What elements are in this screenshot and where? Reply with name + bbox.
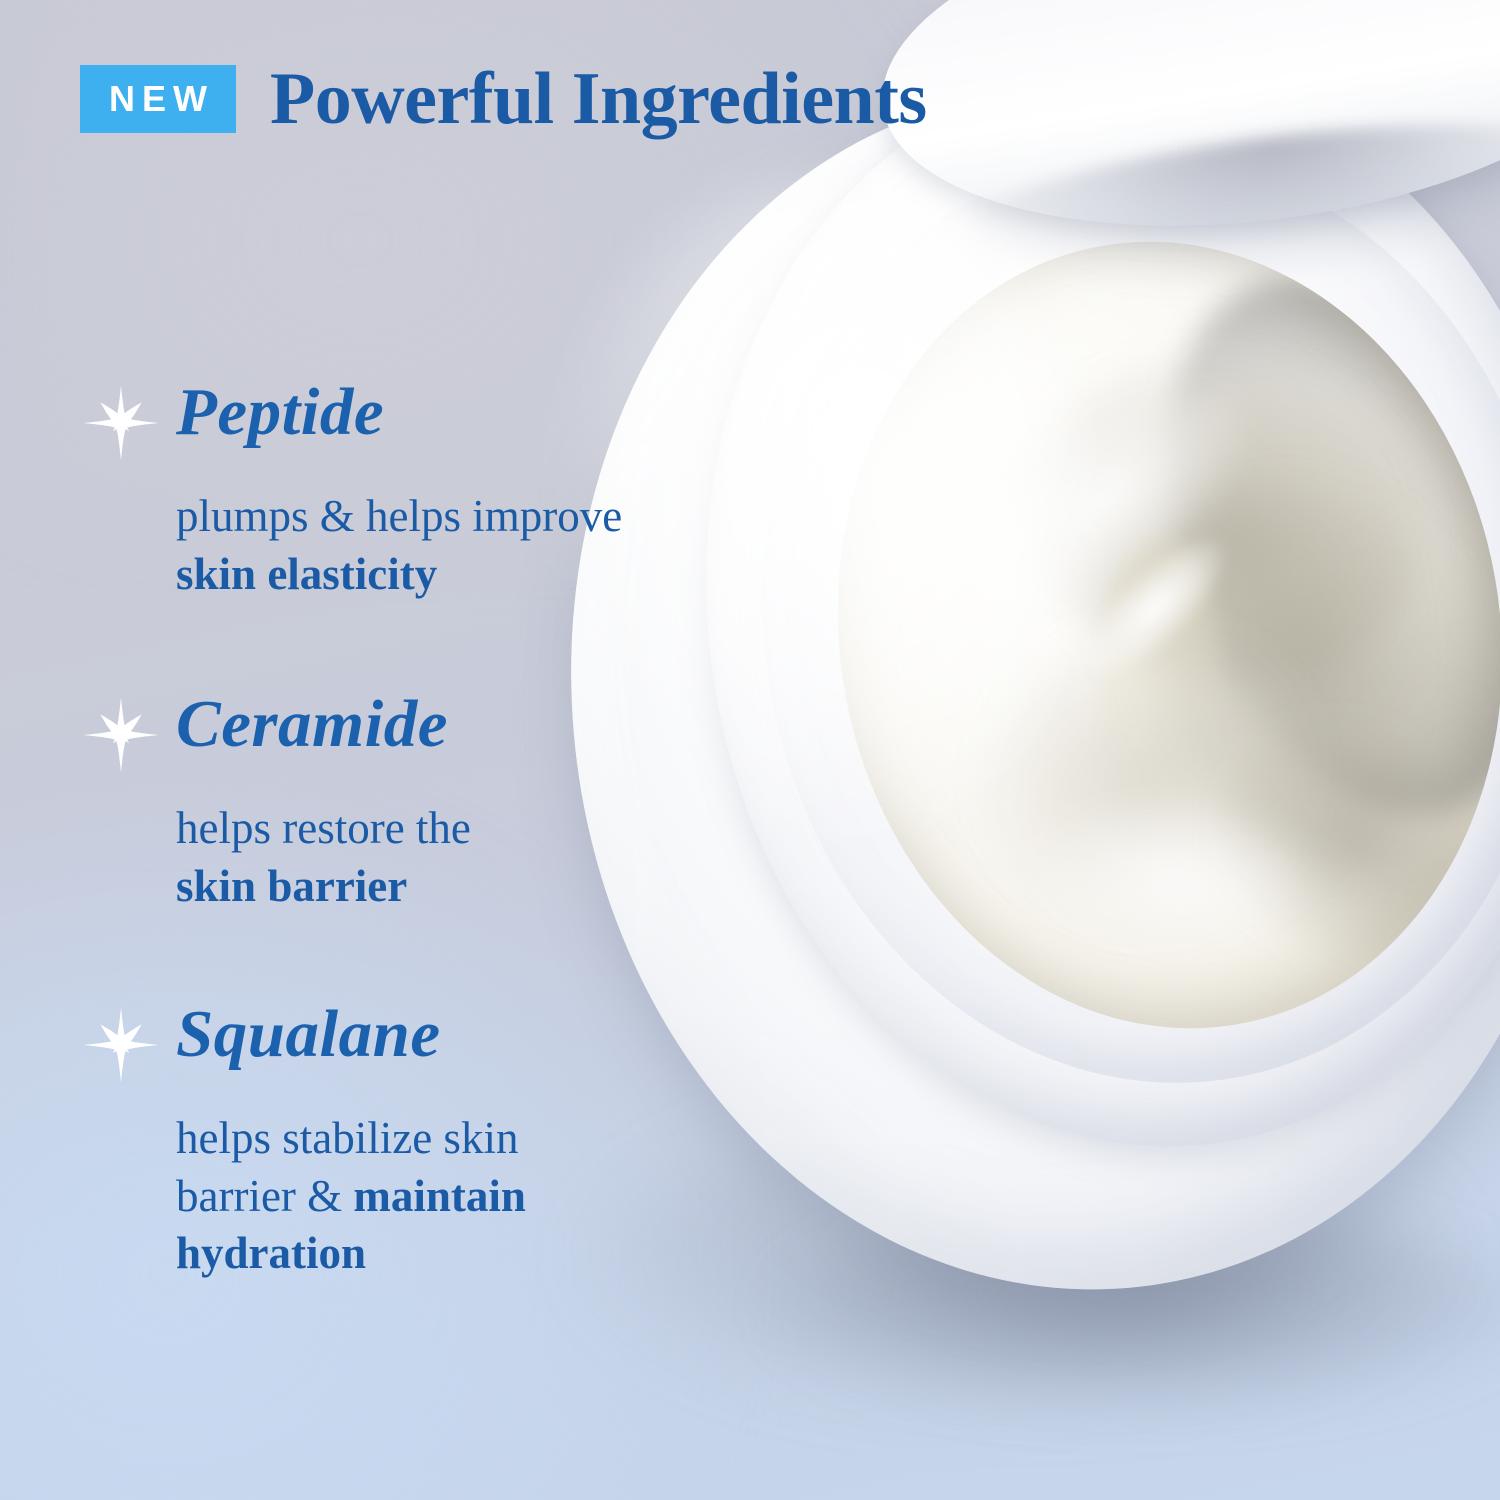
ingredient-description-regular: plumps & helps improve	[176, 491, 622, 541]
ingredient-heading-row: Squalane	[82, 1000, 702, 1084]
ingredient-name: Ceramide	[176, 690, 448, 758]
ingredient-description-regular: helps stabilize skin	[176, 1113, 518, 1163]
sparkle-icon	[82, 384, 160, 462]
ingredient-description-bold: skin barrier	[176, 861, 407, 911]
product-feature-card: NEW Powerful Ingredients Peptide plumps …	[0, 0, 1500, 1500]
header: NEW Powerful Ingredients	[80, 62, 927, 136]
ingredient-description-regular-2: barrier &	[176, 1171, 342, 1221]
ingredient-description-regular: helps restore the	[176, 803, 471, 853]
page-title: Powerful Ingredients	[270, 62, 927, 136]
ingredient-item: Ceramide helps restore the skin barrier	[82, 690, 702, 915]
new-badge: NEW	[80, 65, 236, 133]
sparkle-icon	[82, 696, 160, 774]
ingredient-description-bold: skin elasticity	[176, 549, 437, 599]
ingredient-name: Peptide	[176, 378, 384, 446]
ingredient-name: Squalane	[176, 1000, 441, 1068]
sparkle-icon	[82, 1006, 160, 1084]
ingredient-description: helps stabilize skin barrier & maintain …	[176, 1110, 702, 1283]
ingredient-description: plumps & helps improve skin elasticity	[176, 488, 702, 603]
ingredient-heading-row: Peptide	[82, 378, 702, 462]
ingredient-heading-row: Ceramide	[82, 690, 702, 774]
ingredient-item: Squalane helps stabilize skin barrier & …	[82, 1000, 702, 1283]
ingredient-item: Peptide plumps & helps improve skin elas…	[82, 378, 702, 603]
ingredient-description: helps restore the skin barrier	[176, 800, 702, 915]
